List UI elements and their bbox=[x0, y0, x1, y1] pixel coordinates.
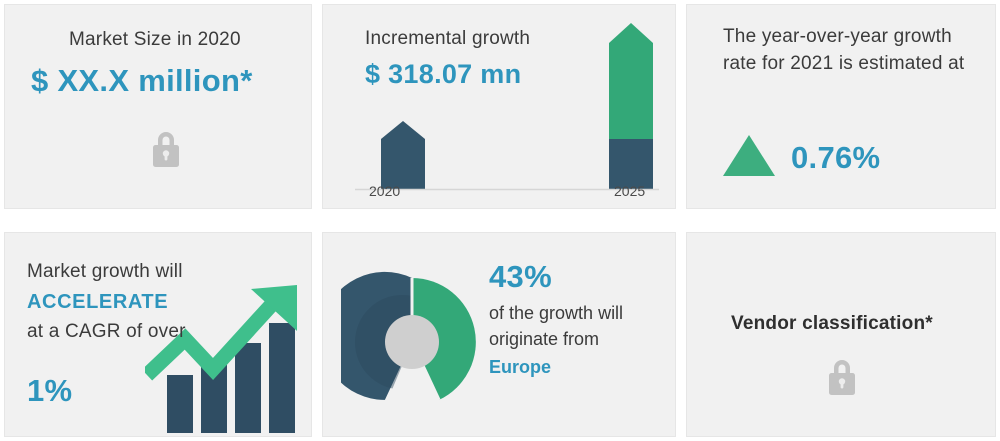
region-share-region: Europe bbox=[489, 357, 671, 378]
x-tick-label-2020: 2020 bbox=[369, 183, 400, 199]
cagr-line-1: Market growth will bbox=[27, 259, 183, 286]
triangle-up-icon bbox=[721, 131, 777, 184]
vendor-classification-title: Vendor classification* bbox=[731, 313, 933, 335]
panel-vendor-classification: Vendor classification* bbox=[686, 232, 996, 437]
lock-icon bbox=[147, 127, 185, 171]
market-size-value: $ XX.X million* bbox=[31, 63, 253, 99]
panel-market-size: Market Size in 2020 $ XX.X million* bbox=[4, 4, 312, 209]
cagr-bar-3 bbox=[235, 343, 261, 433]
panel-incremental-growth: Incremental growth $ 318.07 mn 2020 2025 bbox=[322, 4, 676, 209]
panel-yoy-growth: The year-over-year growth rate for 2021 … bbox=[686, 4, 996, 209]
panel-region-share: 43% of the growth will originate from Eu… bbox=[322, 232, 676, 437]
lock-icon bbox=[823, 355, 861, 399]
infographic-board: Market Size in 2020 $ XX.X million* bbox=[0, 0, 1000, 441]
cagr-line-3: at a CAGR of over bbox=[27, 319, 186, 346]
cagr-bar-1 bbox=[167, 375, 193, 433]
cagr-bar-4 bbox=[269, 323, 295, 433]
yoy-growth-value: 0.76% bbox=[791, 140, 880, 176]
region-share-text: 43% of the growth will originate from Eu… bbox=[489, 259, 671, 378]
yoy-growth-title: The year-over-year growth rate for 2021 … bbox=[723, 24, 973, 78]
x-tick-label-2025: 2025 bbox=[614, 183, 645, 199]
region-share-percent: 43% bbox=[489, 259, 671, 295]
market-size-title: Market Size in 2020 bbox=[69, 27, 241, 54]
incremental-growth-value: $ 318.07 mn bbox=[365, 59, 521, 90]
bar-2025-base bbox=[609, 139, 653, 189]
yoy-growth-value-row: 0.76% bbox=[721, 131, 880, 184]
donut-center-hole bbox=[385, 315, 439, 369]
cagr-value: 1% bbox=[27, 373, 72, 409]
region-share-line-1: of the growth will bbox=[489, 301, 671, 327]
panel-cagr: Market growth will ACCELERATE at a CAGR … bbox=[4, 232, 312, 437]
cagr-line-2: ACCELERATE bbox=[27, 291, 168, 314]
bar-2020 bbox=[381, 121, 425, 189]
region-share-line-2: originate from bbox=[489, 327, 671, 353]
bar-2025-incremental bbox=[609, 23, 653, 139]
region-share-donut bbox=[341, 271, 483, 418]
growth-arrow-icon bbox=[145, 283, 311, 433]
incremental-growth-title: Incremental growth bbox=[365, 26, 530, 53]
